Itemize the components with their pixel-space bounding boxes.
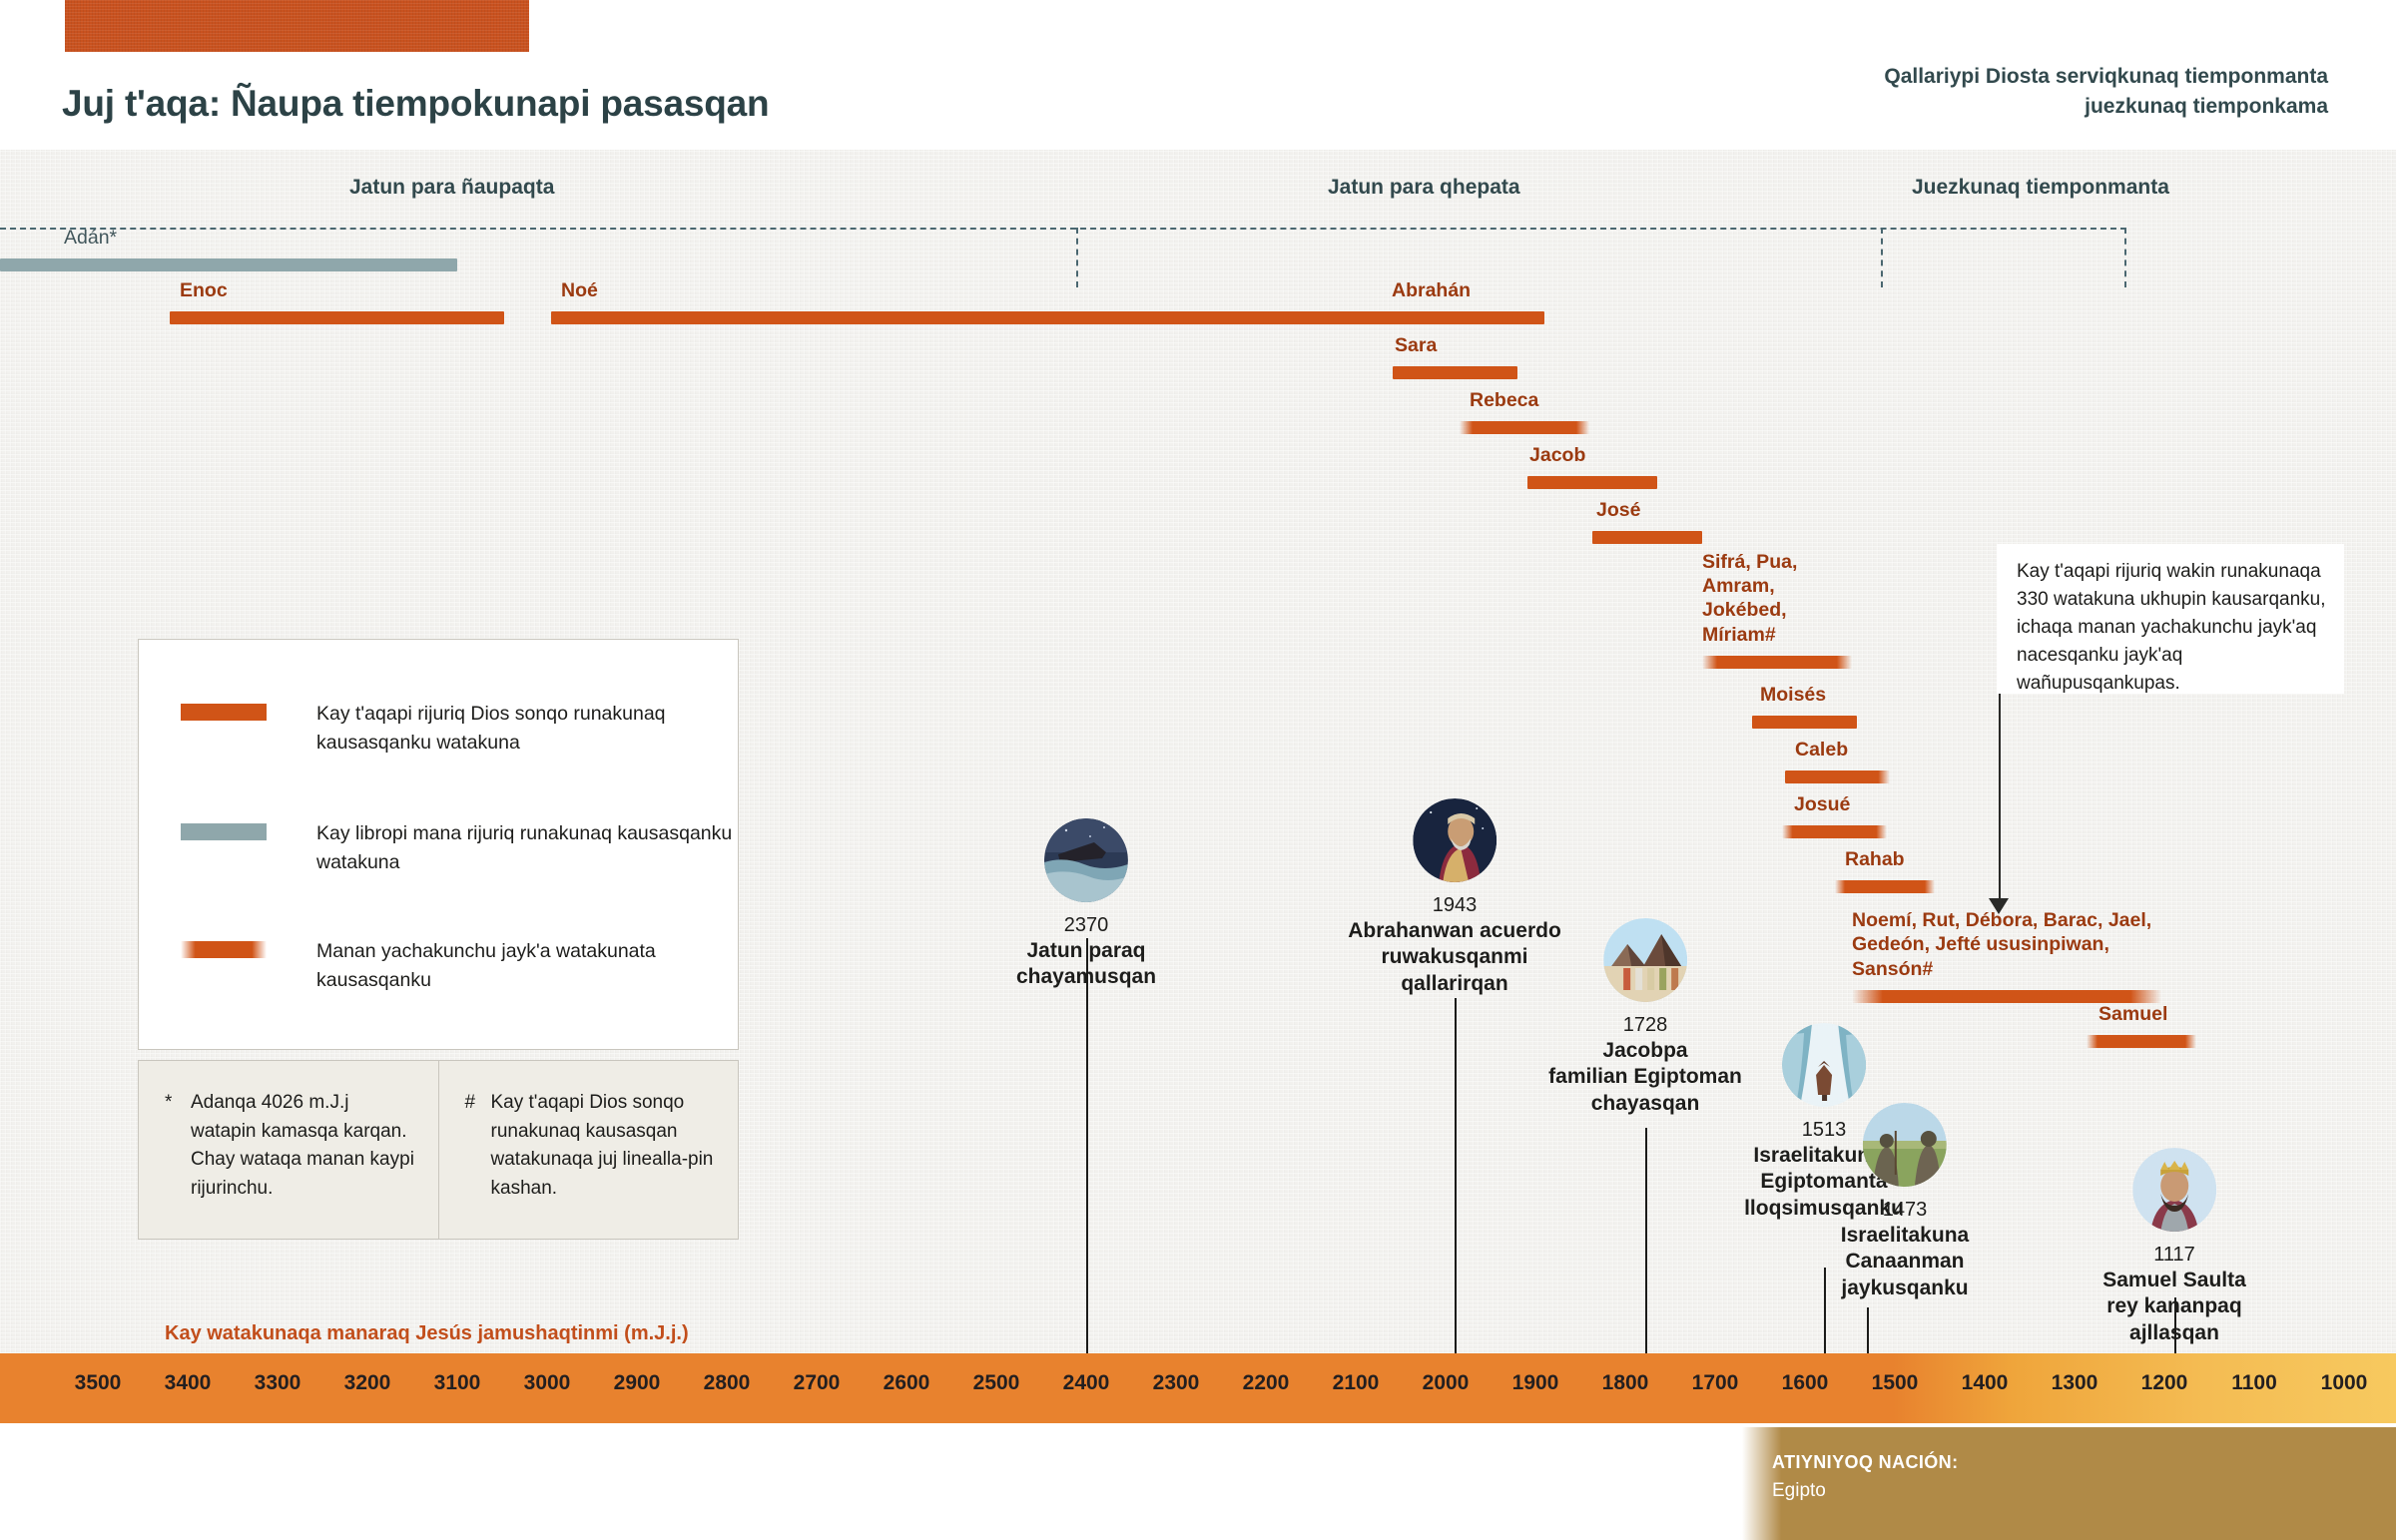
life-row-rahab: Rahab: [1835, 853, 1935, 893]
life-bar-adan: [0, 258, 457, 271]
event-year-abraham: 1943: [1348, 892, 1561, 918]
life-bar-josue: [1782, 825, 1887, 838]
footnote-marker-asterisk: *: [165, 1089, 191, 1239]
life-bar-rahab: [1835, 880, 1935, 893]
page-subtitle-line2: juezkunaq tiemponkama: [1884, 92, 2328, 122]
life-bar-samuel: [2087, 1035, 2196, 1048]
life-row-jacob: Jacob: [1527, 449, 1657, 489]
life-bar-jacob: [1527, 476, 1657, 489]
axis-tick: 2500: [973, 1371, 1020, 1395]
event-jacob-egypt: 1728 Jacobpa familian Egiptoman chayasqa…: [1548, 918, 1742, 1117]
axis-tick: 1600: [1782, 1371, 1829, 1395]
egypt-pyramids-icon: [1603, 918, 1687, 1002]
legend-text-2: Kay libropi mana rijuriq runakunaq kausa…: [316, 819, 736, 877]
legend-swatch-unknown-icon: [181, 941, 267, 958]
axis-tick: 3500: [75, 1371, 122, 1395]
canaan-entry-icon: [1863, 1103, 1947, 1187]
axis-tick: 3100: [434, 1371, 481, 1395]
life-label-sara: Sara: [1395, 333, 1437, 357]
axis-tick: 2400: [1063, 1371, 1110, 1395]
axis-tick: 2900: [614, 1371, 661, 1395]
life-row-judges: Noemí, Rut, Débora, Barac, Jael, Gedeón,…: [1852, 928, 2161, 1003]
axis-tick: 1300: [2052, 1371, 2098, 1395]
footnote-2: # Kay t'aqapi Dios sonqo runakunaq kausa…: [438, 1061, 739, 1239]
axis-note: Kay watakunaqa manaraq Jesús jamushaqtin…: [165, 1322, 689, 1345]
axis-tick: 1200: [2141, 1371, 2188, 1395]
axis-tick: 2700: [794, 1371, 841, 1395]
event-abraham-covenant: 1943 Abrahanwan acuerdo ruwakusqanmi qal…: [1348, 798, 1561, 997]
life-label-jose: José: [1596, 498, 1640, 522]
life-row-caleb: Caleb: [1785, 744, 1890, 783]
legend-text-3: Manan yachakunchu jayk'a watakunata kaus…: [316, 937, 736, 995]
era-tick-2: [1881, 228, 1883, 287]
life-row-abrahan: Abrahán: [1390, 284, 1544, 324]
axis-tick: 3000: [524, 1371, 571, 1395]
axis-tick: 2000: [1423, 1371, 1470, 1395]
era-label-3: Juezkunaq tiemponmanta: [1912, 176, 2169, 200]
page-subtitle: Qallariypi Diosta serviqkunaq tiemponman…: [1884, 62, 2328, 122]
life-row-josue: Josué: [1782, 798, 1887, 838]
axis-tick: 2800: [704, 1371, 751, 1395]
life-bar-abrahan: [1390, 311, 1544, 324]
axis-tick: 2100: [1333, 1371, 1380, 1395]
dominant-nation-label: ATIYNIYOQ NACIÓN:: [1772, 1452, 1958, 1473]
event-year-canaan: 1473: [1841, 1197, 1969, 1223]
page-title: Juj t'aqa: Ñaupa tiempokunapi pasasqan: [62, 83, 769, 125]
life-label-rebeca: Rebeca: [1470, 388, 1538, 412]
legend-box: Kay t'aqapi rijuriq Dios sonqo runakunaq…: [138, 639, 739, 1050]
life-row-samuel: Samuel: [2087, 1008, 2196, 1048]
axis-tick: 1500: [1872, 1371, 1919, 1395]
era-label-1: Jatun para ñaupaqta: [349, 176, 554, 200]
life-label-rahab: Rahab: [1845, 847, 1905, 871]
footnote-text-2: Kay t'aqapi Dios sonqo runakunaq kausasq…: [491, 1089, 717, 1239]
abraham-portrait-icon: [1413, 798, 1497, 882]
life-label-noe: Noé: [561, 278, 598, 302]
axis-tick: 2600: [884, 1371, 930, 1395]
axis-tick: 3400: [165, 1371, 212, 1395]
life-row-rebeca: Rebeca: [1460, 394, 1589, 434]
life-row-adan: Adán*: [0, 232, 459, 271]
legend-item-1: Kay t'aqapi rijuriq Dios sonqo runakunaq…: [181, 700, 736, 758]
era-tick-3: [2124, 228, 2126, 287]
event-leader-exodus: [1824, 1268, 1826, 1362]
event-text-abraham: Abrahanwan acuerdo ruwakusqanmi qallarir…: [1348, 918, 1561, 997]
footnote-text-1: Adanqa 4026 m.J.j watapin kamasqa karqan…: [191, 1089, 416, 1239]
event-canaan: 1473 Israelitakuna Canaanman jaykusqanku: [1841, 1103, 1969, 1301]
life-row-jose: José: [1592, 504, 1702, 544]
life-bar-sara: [1393, 366, 1517, 379]
life-bar-enoc: [170, 311, 504, 324]
footnotes-box: * Adanqa 4026 m.J.j watapin kamasqa karq…: [138, 1060, 739, 1240]
timeline-axis: 3500 3400 3300 3200 3100 3000 2900 2800 …: [0, 1353, 2396, 1423]
event-text-jacob: Jacobpa familian Egiptoman chayasqan: [1548, 1038, 1742, 1117]
legend-swatch-unrecorded-icon: [181, 823, 267, 840]
life-row-noe: Noé: [551, 284, 1398, 324]
era-label-2: Jatun para qhepata: [1328, 176, 1520, 200]
life-bar-noe: [551, 311, 1398, 324]
axis-tick: 1400: [1962, 1371, 2009, 1395]
life-label-caleb: Caleb: [1795, 738, 1848, 762]
life-label-moises: Moisés: [1760, 683, 1826, 707]
dominant-nation-banner: ATIYNIYOQ NACIÓN: Egipto: [1742, 1427, 2396, 1540]
legend-item-3: Manan yachakunchu jayk'a watakunata kaus…: [181, 937, 736, 995]
event-year-jacob: 1728: [1548, 1012, 1742, 1038]
dominant-nation-value: Egipto: [1772, 1480, 1826, 1502]
axis-tick: 1000: [2321, 1371, 2368, 1395]
life-label-judges: Noemí, Rut, Débora, Barac, Jael, Gedeón,…: [1852, 908, 2161, 981]
life-row-midwives: Sifrá, Pua, Amram, Jokébed, Míriam#: [1702, 594, 1852, 669]
brand-block: [65, 0, 529, 52]
legend-swatch-recorded-icon: [181, 704, 267, 721]
footnote-1: * Adanqa 4026 m.J.j watapin kamasqa karq…: [139, 1061, 438, 1239]
life-label-enoc: Enoc: [180, 278, 228, 302]
life-row-sara: Sara: [1393, 339, 1517, 379]
event-leader-jacob: [1645, 1128, 1647, 1362]
saul-king-icon: [2132, 1148, 2216, 1232]
legend-item-2: Kay libropi mana rijuriq runakunaq kausa…: [181, 819, 736, 877]
event-text-canaan: Israelitakuna Canaanman jaykusqanku: [1841, 1223, 1969, 1301]
axis-tick: 2200: [1243, 1371, 1290, 1395]
axis-tick: 1900: [1512, 1371, 1559, 1395]
sidenote-arrow-icon: [1989, 898, 2009, 914]
event-leader-abraham: [1455, 998, 1457, 1362]
life-label-adan: Adán*: [64, 226, 117, 250]
life-bar-midwives: [1702, 656, 1852, 669]
life-label-jacob: Jacob: [1529, 443, 1585, 467]
life-label-josue: Josué: [1794, 792, 1850, 816]
axis-tick: 2300: [1153, 1371, 1200, 1395]
axis-tick: 1700: [1692, 1371, 1739, 1395]
life-label-abrahan: Abrahán: [1392, 278, 1471, 302]
axis-tick: 3300: [255, 1371, 301, 1395]
era-tick-1: [1076, 228, 1078, 287]
legend-text-1: Kay t'aqapi rijuriq Dios sonqo runakunaq…: [316, 700, 736, 758]
footnote-marker-hash: #: [465, 1089, 491, 1239]
life-bar-jose: [1592, 531, 1702, 544]
life-bar-rebeca: [1460, 421, 1589, 434]
event-leader-flood: [1086, 938, 1088, 1362]
axis-tick: 1800: [1602, 1371, 1649, 1395]
sidenote-box: Kay t'aqapi rijuriq wakin runakunaqa 330…: [1997, 544, 2344, 694]
page-subtitle-line1: Qallariypi Diosta serviqkunaq tiemponman…: [1884, 62, 2328, 92]
life-row-moises: Moisés: [1752, 689, 1857, 729]
event-year-flood: 2370: [1016, 912, 1156, 938]
event-year-saul: 1117: [2102, 1242, 2246, 1268]
ark-flood-icon: [1044, 818, 1128, 902]
red-sea-crossing-icon: [1782, 1023, 1866, 1107]
axis-tick: 1100: [2231, 1371, 2277, 1395]
era-divider-line: [0, 228, 2126, 230]
life-bar-caleb: [1785, 770, 1890, 783]
life-label-midwives: Sifrá, Pua, Amram, Jokébed, Míriam#: [1702, 550, 1852, 648]
life-bar-moises: [1752, 716, 1857, 729]
axis-tick: 3200: [344, 1371, 391, 1395]
life-row-enoc: Enoc: [170, 284, 504, 324]
life-label-samuel: Samuel: [2098, 1002, 2167, 1026]
